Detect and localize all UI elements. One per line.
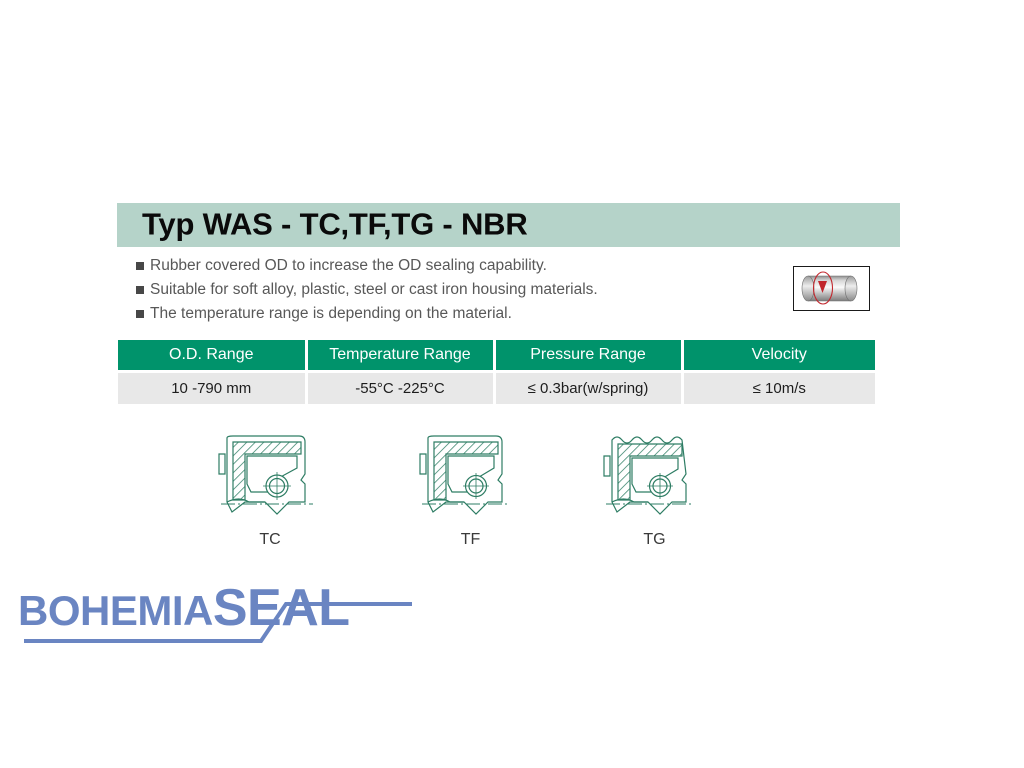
cell-pressure: ≤ 0.3bar(w/spring) bbox=[494, 372, 682, 405]
square-bullet-icon bbox=[136, 310, 144, 318]
list-item: The temperature range is depending on th… bbox=[136, 304, 736, 325]
seal-cross-section-tc-icon bbox=[205, 424, 335, 524]
seal-figure-tf: TF bbox=[408, 424, 533, 549]
list-item: Rubber covered OD to increase the OD sea… bbox=[136, 256, 736, 277]
logo-word-bohemia: BOHEMIA bbox=[18, 587, 213, 634]
column-header-velocity: Velocity bbox=[682, 340, 875, 372]
list-item: Suitable for soft alloy, plastic, steel … bbox=[136, 280, 736, 301]
feature-text: Suitable for soft alloy, plastic, steel … bbox=[150, 280, 598, 300]
square-bullet-icon bbox=[136, 286, 144, 294]
seal-label-tf: TF bbox=[408, 531, 533, 549]
seal-label-tc: TC bbox=[205, 531, 335, 549]
rotating-shaft-icon bbox=[794, 267, 868, 309]
logo-word-seal: SEAL bbox=[213, 579, 350, 637]
seal-figure-tc: TC bbox=[205, 424, 335, 549]
title-band: Typ WAS - TC,TF,TG - NBR bbox=[117, 203, 900, 247]
seal-cross-section-tg-icon bbox=[592, 424, 717, 524]
feature-text: Rubber covered OD to increase the OD sea… bbox=[150, 256, 547, 276]
column-header-od-range: O.D. Range bbox=[118, 340, 306, 372]
table-header-row: O.D. Range Temperature Range Pressure Ra… bbox=[118, 340, 875, 372]
logo-wordmark: BOHEMIASEAL bbox=[18, 578, 350, 638]
cell-velocity: ≤ 10m/s bbox=[682, 372, 875, 405]
column-header-pressure: Pressure Range bbox=[494, 340, 682, 372]
seal-cross-section-tf-icon bbox=[408, 424, 533, 524]
seal-label-tg: TG bbox=[592, 531, 717, 549]
table-row: 10 -790 mm -55°C -225°C ≤ 0.3bar(w/sprin… bbox=[118, 372, 875, 405]
square-bullet-icon bbox=[136, 262, 144, 270]
seal-figure-tg: TG bbox=[592, 424, 717, 549]
feature-list: Rubber covered OD to increase the OD sea… bbox=[136, 256, 736, 328]
specification-table: O.D. Range Temperature Range Pressure Ra… bbox=[118, 340, 875, 404]
cell-od-range: 10 -790 mm bbox=[118, 372, 306, 405]
column-header-temperature: Temperature Range bbox=[306, 340, 494, 372]
rotating-shaft-icon-box bbox=[793, 266, 870, 311]
cell-temperature: -55°C -225°C bbox=[306, 372, 494, 405]
page-title: Typ WAS - TC,TF,TG - NBR bbox=[142, 206, 528, 242]
feature-text: The temperature range is depending on th… bbox=[150, 304, 512, 324]
company-logo: BOHEMIASEAL bbox=[18, 578, 418, 648]
